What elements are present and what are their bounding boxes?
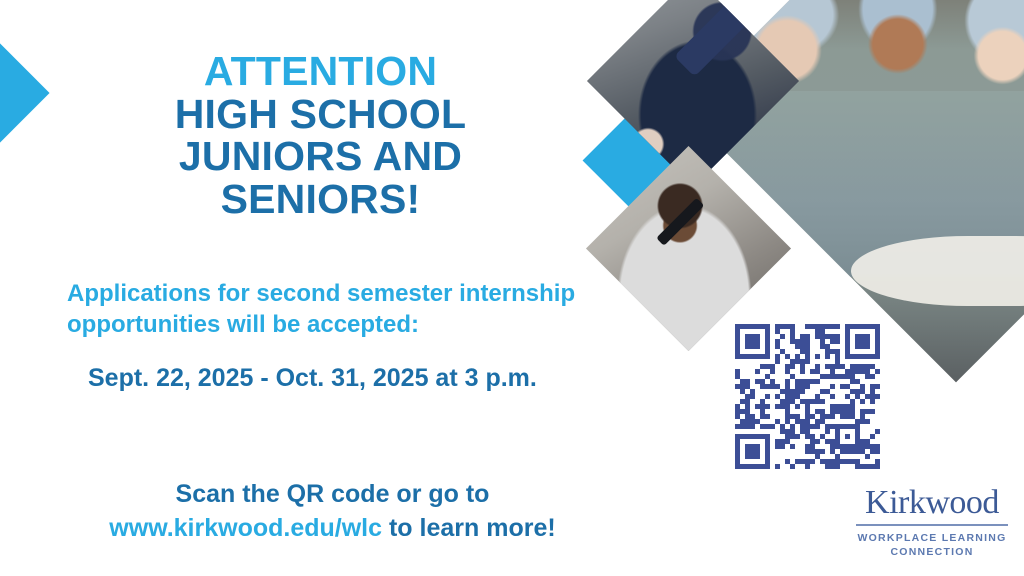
safety-glasses	[656, 197, 704, 245]
headline-line-1: ATTENTION	[28, 50, 613, 93]
website-url[interactable]: www.kirkwood.edu/wlc	[109, 514, 382, 542]
call-to-action: Scan the QR code or go to www.kirkwood.e…	[40, 478, 625, 545]
logo-wordmark: Kirkwood	[856, 486, 1008, 520]
kirkwood-logo: Kirkwood WORKPLACE LEARNING CONNECTION	[856, 486, 1008, 559]
application-date-range: Sept. 22, 2025 - Oct. 31, 2025 at 3 p.m.	[88, 364, 537, 393]
logo-tagline-line-1: WORKPLACE LEARNING	[856, 531, 1008, 545]
flyer-canvas: ATTENTION HIGH SCHOOL JUNIORS AND SENIOR…	[0, 0, 1024, 576]
cta-line-2: www.kirkwood.edu/wlc to learn more!	[40, 512, 625, 546]
logo-tagline-line-2: CONNECTION	[856, 545, 1008, 559]
headline-line-2: HIGH SCHOOL	[28, 93, 613, 136]
headline: ATTENTION HIGH SCHOOL JUNIORS AND SENIOR…	[28, 50, 613, 221]
headline-line-4: SENIORS!	[28, 178, 613, 221]
cta-line-1: Scan the QR code or go to	[40, 478, 625, 512]
logo-tagline: WORKPLACE LEARNING CONNECTION	[856, 531, 1008, 559]
logo-divider	[856, 524, 1008, 526]
qr-code[interactable]	[735, 321, 880, 472]
vr-headset-strap	[674, 0, 762, 76]
body-paragraph: Applications for second semester interns…	[67, 278, 612, 340]
headline-line-3: JUNIORS AND	[28, 135, 613, 178]
cta-suffix: to learn more!	[382, 514, 556, 542]
